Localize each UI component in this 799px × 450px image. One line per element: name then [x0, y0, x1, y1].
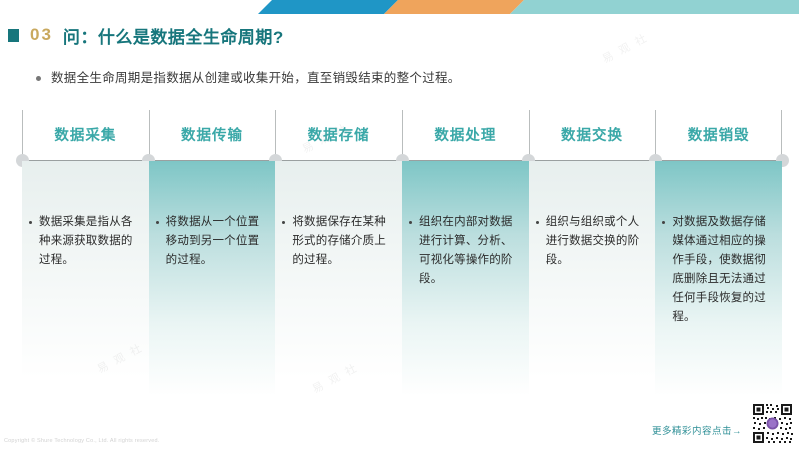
bullet-dot-icon [36, 76, 41, 81]
banner-segment-orange [384, 0, 524, 14]
stage-column-3[interactable]: 将数据保存在某种形式的存储介质上的过程。 [275, 161, 402, 408]
banner-segment-blue [258, 0, 398, 14]
copyright-text: Copyright © Shure Technology Co., Ltd. A… [4, 438, 159, 444]
qr-code-image [751, 402, 794, 445]
stage-description-row: 将数据保存在某种形式的存储介质上的过程。 [275, 213, 402, 270]
section-number: 03 [30, 25, 53, 45]
stage-description-row: 组织与组织或个人进行数据交换的阶段。 [529, 213, 656, 270]
stage-description-row: 数据采集是指从各种来源获取数据的过程。 [22, 213, 149, 270]
stage-description: 将数据保存在某种形式的存储介质上的过程。 [292, 213, 393, 270]
stage-description-row: 将数据从一个位置移动到另一个位置的过程。 [149, 213, 276, 270]
cta-text[interactable]: 更多精彩内容点击→ [652, 423, 742, 437]
bullet-dot-icon [29, 221, 32, 224]
stage-column-group: 数据采集是指从各种来源获取数据的过程。将数据从一个位置移动到另一个位置的过程。将… [22, 161, 782, 408]
stage-column-5[interactable]: 组织与组织或个人进行数据交换的阶段。 [529, 161, 656, 408]
page-title-row: 03 问：什么是数据全生命周期? [8, 22, 284, 48]
banner-segment-teal [510, 0, 799, 14]
bullet-dot-icon [409, 221, 412, 224]
stage-column-2[interactable]: 将数据从一个位置移动到另一个位置的过程。 [149, 161, 276, 408]
page-title: 问：什么是数据全生命周期? [63, 23, 284, 48]
stage-column-4[interactable]: 组织在内部对数据进行计算、分析、可视化等操作的阶段。 [402, 161, 529, 408]
timeline-node-group [22, 108, 782, 168]
intro-text: 数据全生命周期是指数据从创建或收集开始，直至销毁结束的整个过程。 [51, 69, 461, 87]
title-square-marker [8, 29, 19, 42]
intro-bullet: 数据全生命周期是指数据从创建或收集开始，直至销毁结束的整个过程。 [36, 69, 461, 87]
stage-description: 将数据从一个位置移动到另一个位置的过程。 [166, 213, 267, 270]
stage-column-6[interactable]: 对数据及数据存储媒体通过相应的操作手段，使数据彻底删除且无法通过任何手段恢复的过… [655, 161, 782, 408]
watermark: 易 观 社 [599, 29, 651, 67]
lifecycle-timeline: 数据采集数据传输数据存储数据处理数据交换数据销毁 数据采集是指从各种来源获取数据… [22, 108, 782, 408]
bullet-dot-icon [282, 221, 285, 224]
stage-column-1[interactable]: 数据采集是指从各种来源获取数据的过程。 [22, 161, 149, 408]
bullet-dot-icon [662, 221, 665, 224]
top-decorative-banner [0, 0, 799, 14]
stage-description: 数据采集是指从各种来源获取数据的过程。 [39, 213, 140, 270]
stage-description: 组织与组织或个人进行数据交换的阶段。 [546, 213, 647, 270]
qr-code[interactable] [751, 402, 794, 445]
stage-description: 对数据及数据存储媒体通过相应的操作手段，使数据彻底删除且无法通过任何手段恢复的过… [672, 213, 773, 327]
stage-description-row: 对数据及数据存储媒体通过相应的操作手段，使数据彻底删除且无法通过任何手段恢复的过… [655, 213, 782, 327]
stage-description-row: 组织在内部对数据进行计算、分析、可视化等操作的阶段。 [402, 213, 529, 289]
bullet-dot-icon [156, 221, 159, 224]
stage-description: 组织在内部对数据进行计算、分析、可视化等操作的阶段。 [419, 213, 520, 289]
bullet-dot-icon [536, 221, 539, 224]
